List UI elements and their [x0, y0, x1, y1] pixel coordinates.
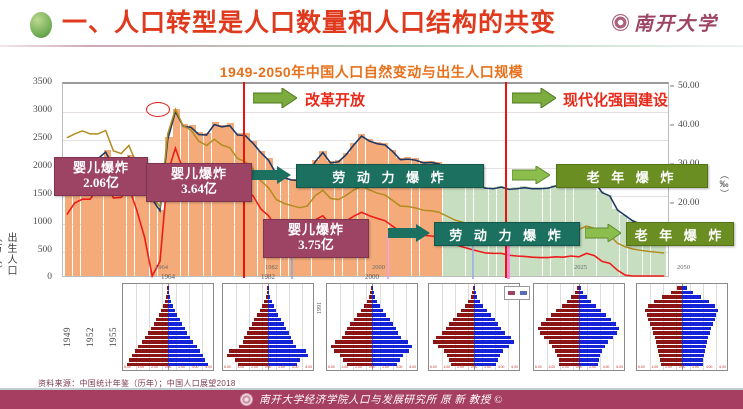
right-arrow-icon: [253, 88, 297, 108]
pyramid-bar-male: [247, 331, 268, 335]
pyramid-bar-female: [372, 318, 390, 322]
university-logo-text: 南开大学: [634, 9, 718, 36]
pyramid-bar-male: [145, 336, 168, 340]
right-arrow-icon: [512, 88, 556, 108]
pyramid-bar-male: [660, 358, 682, 362]
pyramid-bar-female: [682, 304, 715, 308]
pyramid-bar-female: [579, 313, 606, 317]
pyramid-bar-female: [268, 318, 281, 322]
pyramid-bar-male: [544, 336, 579, 340]
pyramid-bar-female: [579, 349, 602, 353]
pyramid-bar-female: [268, 358, 300, 362]
pyramid-year-label: 1964: [123, 273, 213, 281]
pyramid-bar-female: [268, 300, 272, 304]
pyramid-bar-male: [449, 358, 474, 362]
pyramid-bar-male: [653, 331, 682, 335]
pyramid-bar-male: [154, 322, 168, 326]
pyramid-bar-female: [474, 313, 491, 317]
pyramid-bar-male: [148, 331, 168, 335]
y-tick-left: 2500: [33, 133, 52, 143]
right-arrow-icon: [388, 224, 430, 242]
x-tick-year: 1952: [85, 327, 95, 347]
pyramid-bar-female: [372, 295, 375, 299]
y-tick-right: 50.00: [678, 81, 699, 91]
pyramid-bar-female: [682, 313, 716, 317]
pyramid-bar-male: [340, 354, 372, 358]
pyramid-bar-male: [350, 322, 372, 326]
pyramid-bar-female: [682, 300, 709, 304]
pyramid-bar-male: [648, 318, 682, 322]
pyramid-bar-male: [671, 291, 682, 295]
pyramid-bar-male: [444, 349, 474, 353]
pyramid-bar-male: [135, 349, 168, 353]
pyramid-bar-male: [235, 358, 268, 362]
y-tick-left: 500: [38, 245, 52, 255]
pyramid-axis-ticks: 6.004.002.000.002.004.006.00: [123, 365, 213, 370]
pyramid-bar-male: [652, 327, 682, 331]
chart-legend-box[interactable]: [504, 286, 530, 300]
y-tick-right: 20.00: [678, 198, 699, 208]
pyramid-bar-female: [268, 340, 293, 344]
pyramid-bar-male: [571, 295, 579, 299]
nankai-university-seal-icon: [612, 14, 629, 31]
pyramid-bar-female: [474, 349, 503, 353]
pyramid-bar-female: [474, 309, 487, 313]
pyramid-axis-ticks: 6.004.002.000.002.004.006.00: [534, 365, 624, 370]
footer-text: 南开大学经济学院人口与发展研究所 原 新 教授 ©: [259, 392, 502, 407]
pyramid-bar-male: [151, 327, 168, 331]
pyramid-bar-female: [579, 327, 619, 331]
y-axis-left-label: 出生人口（万人）: [0, 232, 18, 278]
pyramid-bar-male: [129, 358, 168, 362]
pyramid-bar-male: [357, 313, 372, 317]
pyramid-bar-female: [372, 313, 386, 317]
pyramid-bar-female: [579, 318, 611, 322]
bullet-icon: [30, 12, 52, 38]
pyramid-bar-male: [656, 340, 682, 344]
pyramid-bar-male: [227, 354, 268, 358]
pyramid-bar-female: [268, 304, 274, 308]
pyramid-bar-male: [156, 318, 168, 322]
pyramid-bar-female: [168, 354, 203, 358]
pyramid-bar-male: [364, 304, 372, 308]
pyramid-bar-male: [347, 327, 372, 331]
pyramid-bar-male: [331, 345, 372, 349]
pyramid-bar-female: [682, 318, 715, 322]
pyramid-bar-female: [682, 358, 703, 362]
pyramid-bar-male: [436, 336, 474, 340]
pyramid-bar-male: [446, 327, 474, 331]
pyramid-bar-female: [168, 291, 169, 295]
pyramid-bar-female: [474, 327, 501, 331]
pyramid-bar-female: [268, 345, 296, 349]
pyramid-bar-female: [372, 354, 403, 358]
pyramid-bar-female: [579, 309, 601, 313]
pyramid-bar-female: [474, 354, 500, 358]
inline-year: 2050: [677, 264, 690, 271]
pyramid-bar-female: [682, 309, 718, 313]
callout-value: 2.06亿: [62, 176, 140, 191]
pyramid-bar-female: [474, 340, 514, 344]
pyramid-bar-male: [257, 313, 268, 317]
pyramid-bar-female: [682, 322, 713, 326]
pyramid-bar-male: [654, 300, 682, 304]
inline-year: 1964: [155, 264, 168, 271]
pyramid-bar-female: [474, 322, 498, 326]
y-tick-left: 0: [47, 272, 52, 282]
pyramid-bar-female: [682, 349, 705, 353]
pyramid-bar-female: [579, 304, 596, 308]
pyramid-bar-male: [556, 309, 579, 313]
pyramid-bar-male: [650, 322, 682, 326]
pyramid-bar-female: [168, 322, 182, 326]
pyramid-bar-male: [555, 349, 579, 353]
peak-highlight-circle: [146, 102, 170, 117]
pyramid-bar-male: [161, 309, 168, 313]
pyramid-bar-male: [354, 318, 372, 322]
pyramid-axis-ticks: 6.004.002.000.002.004.006.00: [327, 365, 417, 370]
pyramid-bar-male: [433, 340, 474, 344]
pyramid-bar-female: [682, 327, 711, 331]
pyramid-bar-male: [658, 349, 682, 353]
pyramid-bar-female: [682, 331, 710, 335]
pyramid-bar-female: [579, 358, 599, 362]
pyramid-bar-male: [239, 345, 268, 349]
pyramid-bar-male: [457, 313, 474, 317]
pyramid-bar-male: [662, 295, 682, 299]
pyramid-bar-female: [268, 331, 289, 335]
pyramid-bar-female: [682, 345, 706, 349]
pyramid-bar-male: [260, 309, 268, 313]
pyramid-bar-female: [372, 291, 374, 295]
pyramid-year-label: 1982: [223, 273, 313, 281]
era-divider-2020: [505, 82, 507, 278]
pyramid-bar-female: [682, 336, 708, 340]
pyramid-bar-female: [474, 295, 477, 299]
population-pyramid-2025: 6.004.002.000.002.004.006.00: [533, 283, 625, 371]
pyramid-bar-female: [372, 336, 401, 340]
pyramid-bar-female: [579, 336, 613, 340]
pyramid-bar-female: [268, 349, 306, 353]
pyramid-bar-female: [168, 345, 197, 349]
pyramid-bar-male: [540, 331, 579, 335]
pyramid-bar-male: [249, 327, 268, 331]
population-pyramid-2000: 2000 1991 6.004.002.000.002.004.006.00: [326, 283, 418, 371]
pyramid-bar-female: [682, 291, 693, 295]
pyramid-bar-female: [474, 304, 483, 308]
nankai-university-seal-icon: [240, 393, 253, 406]
pyramid-bar-female: [372, 340, 408, 344]
right-arrow-icon: [251, 166, 291, 184]
pyramid-bar-female: [372, 286, 373, 290]
pyramid-bar-female: [682, 354, 704, 358]
pyramid-bar-female: [372, 327, 396, 331]
pyramid-bar-female: [168, 295, 170, 299]
pyramid-bar-female: [372, 300, 377, 304]
pyramid-bar-male: [159, 313, 168, 317]
pyramid-bar-female: [372, 309, 383, 313]
pyramid-bar-female: [268, 291, 269, 295]
pyramid-bar-female: [579, 331, 617, 335]
callout-baby-boom-2: 婴儿爆炸 3.64亿: [146, 163, 252, 202]
pyramid-bar-male: [645, 309, 682, 313]
callout-title: 婴儿爆炸: [154, 167, 244, 182]
pyramid-bar-male: [461, 309, 474, 313]
pyramid-bar-female: [579, 354, 600, 358]
pyramid-bar-male: [655, 336, 682, 340]
pyramid-side-label: 1991: [317, 302, 323, 314]
pyramid-bar-male: [562, 304, 579, 308]
right-arrow-icon: [512, 166, 550, 184]
banner-labor-explosion-2: 劳 动 力 爆 炸: [434, 222, 580, 246]
pyramid-bar-female: [168, 304, 173, 308]
pyramid-bar-male: [541, 322, 579, 326]
pyramid-bar-male: [442, 331, 474, 335]
banner-aging-explosion-2: 老 年 爆 炸: [626, 222, 734, 246]
pyramid-bar-female: [168, 336, 190, 340]
pyramid-bar-male: [345, 331, 372, 335]
pyramid-bar-female: [268, 286, 269, 290]
pyramid-bar-female: [168, 340, 193, 344]
page-title: 一、人口转型是人口数量和人口结构的共变: [62, 7, 556, 40]
pyramid-bar-male: [447, 354, 474, 358]
pyramid-bar-female: [579, 322, 616, 326]
pyramid-bar-male: [244, 336, 268, 340]
slide-header: 一、人口转型是人口数量和人口结构的共变 南开大学: [0, 0, 743, 46]
population-pyramid-1982: 1982 6.004.002.000.002.004.006.00: [222, 283, 314, 371]
pyramid-bar-female: [579, 291, 583, 295]
pyramid-bar-male: [453, 318, 474, 322]
callout-baby-boom-3: 婴儿爆炸 3.75亿: [263, 219, 369, 258]
y-tick-left: 1500: [33, 189, 52, 199]
right-arrow-icon: [585, 224, 621, 242]
pyramid-bar-male: [449, 322, 474, 326]
header-divider: [0, 45, 743, 47]
pyramid-bar-female: [168, 313, 177, 317]
pyramid-bar-male: [648, 304, 682, 308]
pyramid-bar-male: [567, 300, 579, 304]
pyramid-bar-female: [268, 327, 286, 331]
pyramid-bar-male: [551, 313, 579, 317]
pyramid-bar-male: [361, 309, 372, 313]
callout-value: 3.75亿: [271, 238, 361, 253]
pyramid-bar-female: [474, 331, 505, 335]
y-axis-right-label: （‰）: [718, 170, 731, 198]
pyramid-year-label: 2000: [327, 273, 417, 281]
pyramid-bar-male: [549, 340, 579, 344]
pyramid-bar-male: [557, 354, 579, 358]
pyramid-bar-male: [138, 345, 168, 349]
pyramid-bar-female: [268, 354, 308, 358]
pyramid-bar-female: [372, 322, 393, 326]
pyramid-bar-female: [168, 358, 205, 362]
pyramid-bar-male: [243, 340, 268, 344]
pyramid-bar-female: [474, 291, 476, 295]
callout-baby-boom-1: 婴儿爆炸 2.06亿: [54, 157, 148, 196]
y-axis-left: 出生人口（万人） 3500 3000 2500 2000 1500 1000 5…: [0, 82, 60, 278]
pyramid-axis-ticks: 6.004.002.000.002.004.006.00: [637, 365, 727, 370]
pyramid-bar-female: [168, 300, 171, 304]
pyramid-bar-male: [335, 340, 372, 344]
pyramid-bar-female: [474, 300, 480, 304]
pyramid-bar-male: [647, 313, 682, 317]
pyramid-bar-male: [438, 345, 474, 349]
pyramid-bar-male: [559, 358, 580, 362]
pyramid-bar-female: [372, 345, 412, 349]
pyramid-bar-male: [142, 340, 168, 344]
pyramid-bar-female: [474, 345, 509, 349]
y-tick-left: 3000: [33, 105, 52, 115]
pyramid-bar-male: [334, 349, 372, 353]
pyramid-bar-female: [268, 322, 284, 326]
pyramid-bar-female: [268, 336, 291, 340]
inline-year: 2025: [574, 264, 587, 271]
y-tick-left: 3500: [33, 77, 52, 87]
pyramid-bar-female: [579, 340, 608, 344]
inline-year: 1982: [265, 264, 278, 271]
pyramid-bar-male: [342, 336, 372, 340]
pyramid-bar-female: [579, 300, 591, 304]
pyramid-bar-male: [552, 345, 579, 349]
pyramid-bar-female: [168, 309, 175, 313]
population-pyramid-2050: 6.004.002.000.002.004.006.00: [636, 283, 728, 371]
pyramid-bar-female: [372, 358, 400, 362]
pyramid-bar-female: [168, 318, 180, 322]
y-tick-left: 1000: [33, 217, 52, 227]
banner-aging-explosion-1: 老 年 爆 炸: [556, 164, 708, 188]
pyramid-bar-female: [372, 331, 398, 335]
pyramid-bar-female: [474, 358, 498, 362]
pyramid-bar-male: [229, 349, 268, 353]
era-label-modernization: 现代化强国建设: [563, 89, 668, 110]
pyramid-bar-female: [682, 340, 707, 344]
pyramid-bar-male: [657, 345, 682, 349]
pyramid-axis-ticks: 6.004.002.000.002.004.006.00: [429, 365, 519, 370]
pyramid-bar-female: [579, 345, 605, 349]
pyramid-axis-ticks: 6.004.002.000.002.004.006.00: [223, 365, 313, 370]
pyramid-bar-male: [132, 354, 168, 358]
pyramid-bar-male: [254, 318, 268, 322]
pyramid-bar-female: [372, 304, 380, 308]
slide-root: 一、人口转型是人口数量和人口结构的共变 南开大学 1949-2050年中国人口自…: [0, 0, 743, 409]
banner-labor-explosion-1: 劳 动 力 爆 炸: [296, 164, 484, 188]
pyramid-bar-female: [168, 349, 200, 353]
y-tick-left: 2000: [33, 161, 52, 171]
pyramid-bar-female: [579, 286, 581, 290]
pyramid-bar-female: [579, 295, 587, 299]
chart-title: 1949-2050年中国人口自然变动与出生人口规模: [0, 62, 743, 82]
pyramid-bar-female: [474, 318, 495, 322]
pyramid-bar-female: [372, 349, 409, 353]
pyramid-bar-female: [168, 286, 169, 290]
slide-footer: 南开大学经济学院人口与发展研究所 原 新 教授 ©: [0, 388, 743, 409]
x-tick-year: 1955: [108, 327, 118, 347]
pyramid-bar-female: [268, 295, 270, 299]
inline-year: 2000: [372, 264, 385, 271]
pyramid-bar-male: [538, 327, 579, 331]
callout-title: 婴儿爆炸: [62, 161, 140, 176]
pyramid-bar-female: [168, 327, 185, 331]
pyramid-bar-male: [252, 322, 268, 326]
callout-value: 3.64亿: [154, 182, 244, 197]
pyramid-bar-female: [474, 286, 475, 290]
pyramid-bar-female: [474, 336, 511, 340]
university-logo: 南开大学: [612, 9, 718, 36]
pyramid-bar-male: [343, 358, 372, 362]
population-pyramid-1964: 1964 6.004.002.000.002.004.006.00: [122, 283, 214, 371]
pyramid-bar-female: [268, 313, 278, 317]
y-tick-right: 40.00: [678, 120, 699, 130]
pyramid-bar-male: [659, 354, 682, 358]
pyramid-bar-female: [168, 331, 187, 335]
pyramid-bar-female: [682, 286, 687, 290]
era-label-reform: 改革开放: [305, 89, 365, 110]
x-tick-year: 1949: [62, 327, 72, 347]
pyramid-bar-female: [268, 309, 276, 313]
pyramid-bar-male: [465, 304, 474, 308]
callout-title: 婴儿爆炸: [271, 223, 361, 238]
pyramid-bar-male: [546, 318, 579, 322]
pyramid-bar-female: [682, 295, 701, 299]
